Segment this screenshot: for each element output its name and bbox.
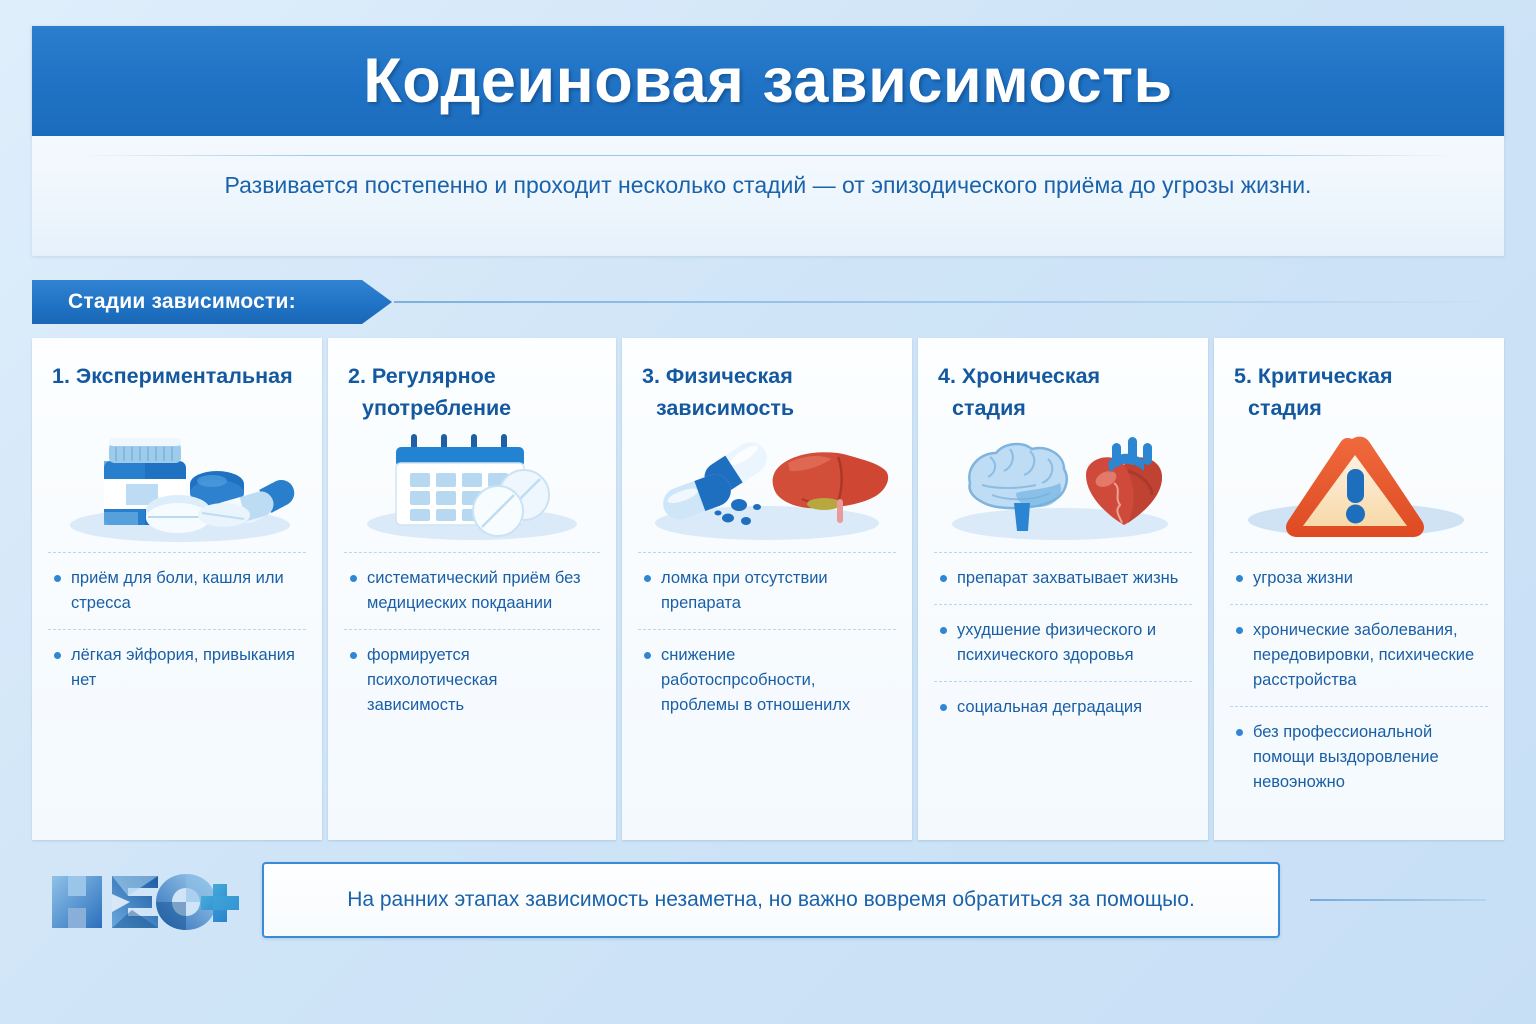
bullet-dot-icon <box>54 652 61 659</box>
bullet-text: хронические заболевания, передовировки, … <box>1253 618 1484 693</box>
list-item: хронические заболевания, передовировки, … <box>1234 605 1484 706</box>
footer-note-text: На ранних этапах зависимость незаметна, … <box>347 888 1195 912</box>
bullet-dot-icon <box>644 575 651 582</box>
list-item: ухудшение физического и психического здо… <box>938 605 1188 681</box>
bullet-dot-icon <box>1236 575 1243 582</box>
ribbon-shape: Стадии зависимости: <box>32 280 392 324</box>
bullet-dot-icon <box>940 575 947 582</box>
stage-card-5[interactable]: 5. Критическая стадия <box>1214 338 1504 840</box>
stages-ribbon: Стадии зависимости: <box>32 280 1504 324</box>
stage-card-2-title-line2: употребление <box>348 392 596 424</box>
stage-card-4-bullets: препарат захватывает жизнь ухудшение физ… <box>938 552 1188 733</box>
stage-card-4-title-line1: 4. Хроническая <box>938 364 1100 388</box>
bullet-text: угроза жизни <box>1253 566 1484 591</box>
bullet-text: препарат захватывает жизнь <box>957 566 1188 591</box>
bullet-dot-icon <box>350 575 357 582</box>
bullet-dot-icon <box>940 704 947 711</box>
subtitle-band: Развивается постепенно и проходит нескол… <box>32 136 1504 256</box>
list-item: лёгкая эйфория, привыкания нет <box>52 630 302 706</box>
stage-card-2-title: 2. Регулярное употребление <box>348 360 596 424</box>
header-band: Кодеиновая зависимость <box>32 26 1504 136</box>
bullet-text: приём для боли, кашля или стресса <box>71 566 302 616</box>
stage-card-5-title-line1: 5. Критическая <box>1234 364 1393 388</box>
stage-card-5-title: 5. Критическая стадия <box>1234 360 1484 424</box>
stage-cards: 1. Экспериментальная <box>32 338 1504 840</box>
brain-heart-icon <box>938 426 1188 546</box>
list-item: приём для боли, кашля или стресса <box>52 553 302 629</box>
bullet-dot-icon <box>350 652 357 659</box>
neo-plus-logo <box>46 866 242 936</box>
stage-card-3-title: 3. Физическая зависимость <box>642 360 892 424</box>
capsule-liver-icon <box>642 426 892 546</box>
bullet-text: лёгкая эйфория, привыкания нет <box>71 643 302 693</box>
list-item: ломка при отсутствии препарата <box>642 553 892 629</box>
calendar-pills-icon <box>348 426 596 546</box>
list-item: без профессиональной помощи выздоровлени… <box>1234 707 1484 808</box>
stage-card-4[interactable]: 4. Хроническая стадия <box>918 338 1208 840</box>
bullet-text: ломка при отсутствии препарата <box>661 566 892 616</box>
bullet-text: социальная деградация <box>957 695 1188 720</box>
list-item: препарат захватывает жизнь <box>938 553 1188 604</box>
stage-card-4-title-line2: стадия <box>938 392 1188 424</box>
bullet-text: формируется психолотическая зависимость <box>367 643 596 718</box>
bullet-text: без профессиональной помощи выздоровлени… <box>1253 720 1484 795</box>
stage-card-2-title-line1: 2. Регулярное <box>348 364 496 388</box>
list-item: снижение работоспрсобности, проблемы в о… <box>642 630 892 731</box>
pill-bottle-icon <box>52 426 302 546</box>
infographic-root: Кодеиновая зависимость Развивается посте… <box>0 0 1536 1024</box>
bullet-dot-icon <box>644 652 651 659</box>
stage-card-5-bullets: угроза жизни хронические заболевания, пе… <box>1234 552 1484 808</box>
stage-card-2-bullets: систематический приём без медициеских по… <box>348 552 596 731</box>
list-item: угроза жизни <box>1234 553 1484 604</box>
stage-card-3-bullets: ломка при отсутствии препарата снижение … <box>642 552 892 731</box>
subtitle-divider <box>77 155 1459 156</box>
bullet-text: снижение работоспрсобности, проблемы в о… <box>661 643 892 718</box>
stage-card-3[interactable]: 3. Физическая зависимость <box>622 338 912 840</box>
bullet-dot-icon <box>1236 627 1243 634</box>
stage-card-3-title-line2: зависимость <box>642 392 892 424</box>
page-title: Кодеиновая зависимость <box>363 45 1172 117</box>
list-item: социальная деградация <box>938 682 1188 733</box>
bullet-text: систематический приём без медициеских по… <box>367 566 596 616</box>
list-item: систематический приём без медициеских по… <box>348 553 596 629</box>
page-subtitle: Развивается постепенно и проходит нескол… <box>32 166 1504 204</box>
footer-trailing-line <box>1310 899 1486 901</box>
ribbon-trailing-line <box>394 301 1504 303</box>
list-item: формируется психолотическая зависимость <box>348 630 596 731</box>
bullet-dot-icon <box>940 627 947 634</box>
stage-card-1-bullets: приём для боли, кашля или стресса лёгкая… <box>52 552 302 706</box>
bullet-dot-icon <box>1236 729 1243 736</box>
footer-note-box: На ранних этапах зависимость незаметна, … <box>262 862 1280 938</box>
stage-card-1[interactable]: 1. Экспериментальная <box>32 338 322 840</box>
stage-card-3-title-line1: 3. Физическая <box>642 364 793 388</box>
bullet-dot-icon <box>54 575 61 582</box>
stage-card-1-title-line1: 1. Экспериментальная <box>52 364 293 388</box>
stage-card-5-title-line2: стадия <box>1234 392 1484 424</box>
ribbon-label: Стадии зависимости: <box>32 290 296 314</box>
stage-card-4-title: 4. Хроническая стадия <box>938 360 1188 424</box>
stage-card-1-title: 1. Экспериментальная <box>52 360 302 424</box>
stage-card-2[interactable]: 2. Регулярное употребление <box>328 338 616 840</box>
bullet-text: ухудшение физического и психического здо… <box>957 618 1188 668</box>
warning-triangle-icon <box>1234 426 1484 546</box>
